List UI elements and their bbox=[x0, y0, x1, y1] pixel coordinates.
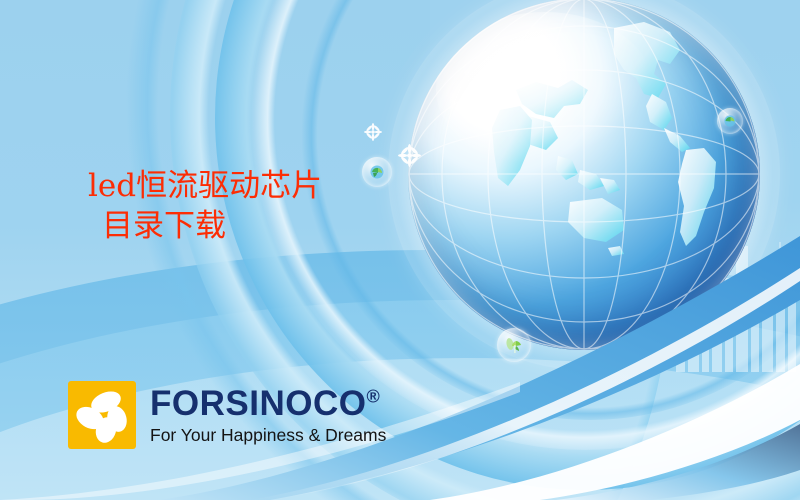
promo-banner: led恒流驱动芯片 目录下载 FORSINOCO® For Your Happi… bbox=[0, 0, 800, 500]
brand-tagline: For Your Happiness & Dreams bbox=[150, 427, 386, 445]
forsinoco-flower-mark-icon bbox=[68, 381, 136, 449]
logo-text-block: FORSINOCO® For Your Happiness & Dreams bbox=[150, 386, 386, 445]
headline-line-1: led恒流驱动芯片 bbox=[88, 166, 322, 206]
bubble-globe-icon-small bbox=[717, 108, 743, 134]
four-petal-flower-icon bbox=[68, 381, 136, 449]
headline-line-2: 目录下载 bbox=[88, 206, 322, 246]
mini-globe-icon bbox=[362, 157, 392, 187]
bubble-globe-icon bbox=[362, 157, 392, 187]
starburst-flower-icon bbox=[398, 144, 421, 167]
headline: led恒流驱动芯片 目录下载 bbox=[88, 166, 322, 247]
starburst-flower-icon bbox=[364, 123, 382, 141]
company-logo: FORSINOCO® For Your Happiness & Dreams bbox=[68, 381, 386, 449]
brand-name: FORSINOCO® bbox=[150, 386, 386, 421]
mini-leaf-icon bbox=[497, 328, 531, 362]
mini-globe-icon bbox=[717, 108, 743, 134]
brand-name-text: FORSINOCO bbox=[150, 384, 366, 423]
registered-trademark-icon: ® bbox=[366, 386, 380, 406]
bubble-leaf-icon bbox=[497, 328, 531, 362]
